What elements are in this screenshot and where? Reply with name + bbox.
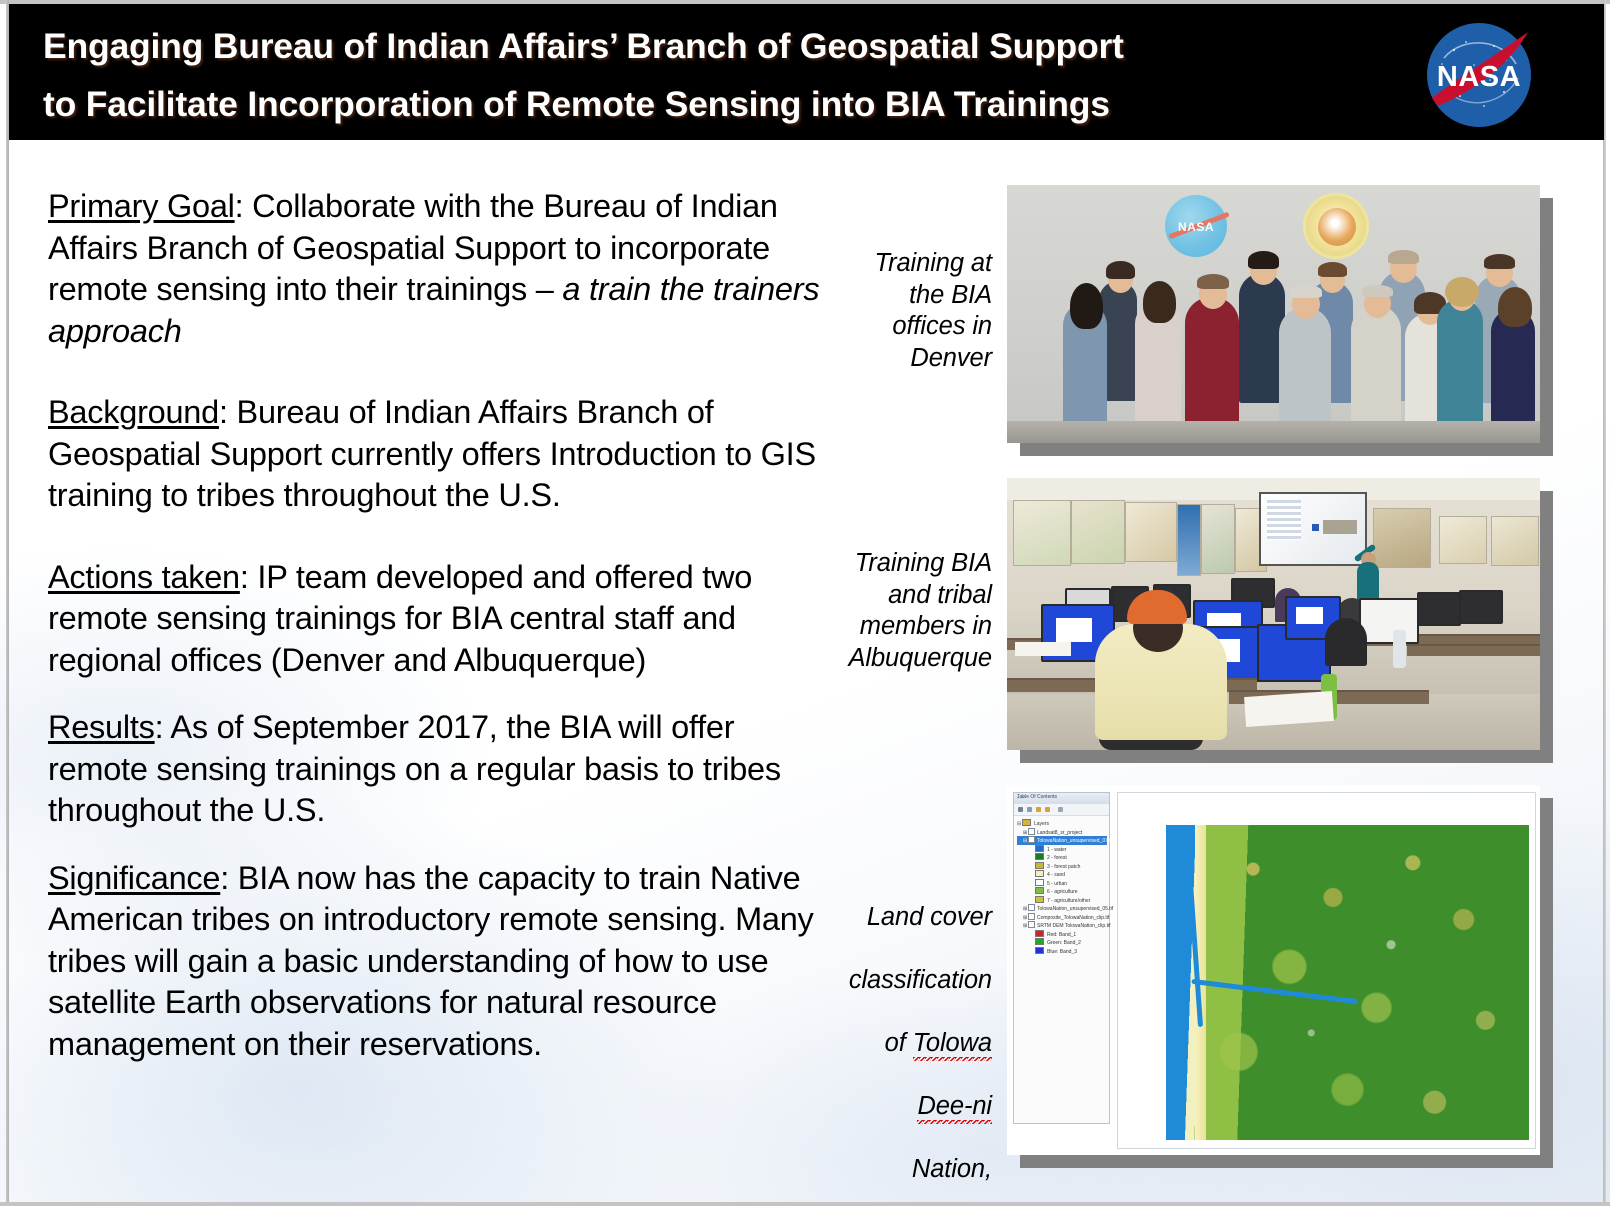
arcmap-toc-list-by-visibility-icon[interactable]	[1036, 807, 1041, 812]
arcmap-legend-label: 7 - agriculture/other	[1047, 898, 1090, 904]
photo-person-hair	[1498, 287, 1532, 327]
paragraph-lead-background: Background	[48, 394, 219, 430]
arcmap-toc-pin-close-icons[interactable]: ⌐ ×	[1017, 795, 1106, 801]
caption-landcover-line1: Land cover	[867, 903, 992, 931]
photo-person-hair	[1248, 251, 1279, 269]
photo-person-hair	[1484, 254, 1515, 269]
slide-header: Engaging Bureau of Indian Affairs’ Branc…	[9, 4, 1604, 140]
slide-border-right	[1603, 0, 1606, 1206]
wall-map-poster	[1125, 502, 1177, 562]
photo-person-hair	[1445, 277, 1479, 307]
arcmap-data-frame[interactable]	[1117, 792, 1536, 1149]
photo-denver-training[interactable]: NASA	[1007, 185, 1540, 443]
arcmap-layer-label: Landsat8_sr_project	[1037, 830, 1082, 836]
photo-person-hair	[1318, 262, 1347, 277]
wall-map-poster	[1439, 516, 1487, 564]
arcmap-layer-label: TolowaNation_unsupervised_07.img	[1037, 838, 1117, 844]
photo-person-hair	[1143, 281, 1176, 323]
photo-person	[1351, 305, 1401, 431]
spacer	[48, 681, 838, 707]
arcmap-layer-label: SRTM DEM TolowaNation_clip.tif	[1037, 923, 1110, 929]
photo-person-hair	[1290, 285, 1322, 298]
photo-albuquerque-training[interactable]	[1007, 478, 1540, 750]
arcmap-layer-item-selected[interactable]: ⊟TolowaNation_unsupervised_07.img	[1017, 836, 1107, 845]
arcmap-legend-band: Red: Band_1	[1017, 930, 1107, 939]
arcmap-legend-class: 6 - agriculture	[1017, 887, 1107, 896]
wall-map-poster	[1491, 516, 1539, 566]
photo-denver-table	[1007, 421, 1540, 443]
caption-landcover-line5: Nation,	[912, 1155, 992, 1183]
spacer	[48, 517, 838, 557]
svg-text:NASA: NASA	[1437, 61, 1521, 93]
paragraph-actions-taken: Actions taken: IP team developed and off…	[48, 557, 838, 682]
projected-nasa-logo-icon: NASA	[1165, 195, 1227, 257]
paragraph-primary-goal: Primary Goal: Collaborate with the Burea…	[48, 186, 838, 352]
photo-person	[1185, 297, 1239, 429]
paragraph-lead-actions-taken: Actions taken	[48, 559, 240, 595]
classroom-monitor	[1459, 590, 1503, 624]
photo-person-hair	[1197, 274, 1229, 289]
slide-canvas: Engaging Bureau of Indian Affairs’ Branc…	[0, 0, 1610, 1206]
wall-map-poster	[1373, 508, 1431, 568]
paragraph-results: Results: As of September 2017, the BIA w…	[48, 707, 838, 832]
arcmap-layer-label: Composite_TolowaNation_clip.tif	[1037, 915, 1109, 921]
arcmap-legend-band: Green: Band_2	[1017, 938, 1107, 947]
classroom-bottle	[1393, 630, 1406, 668]
arcmap-layer-tree[interactable]: ⊟Layers ⊞Landsat8_sr_project ⊟TolowaNati…	[1017, 819, 1107, 955]
arcmap-toc-list-by-selection-icon[interactable]	[1045, 807, 1050, 812]
paragraph-text-results: : As of September 2017, the BIA will off…	[48, 709, 781, 828]
spacer	[48, 832, 838, 858]
wall-map-poster	[1177, 504, 1201, 576]
arcmap-toc-list-by-drawing-order-icon[interactable]	[1018, 807, 1023, 812]
arcmap-legend-label: 5 - urban	[1047, 881, 1067, 887]
caption-landcover-misspelled-deeni: Dee-ni	[917, 1092, 992, 1124]
arcmap-layer-label: TolowaNation_unsupervised_05.tif	[1037, 906, 1113, 912]
wall-map-poster	[1013, 500, 1071, 566]
arcmap-layer-root[interactable]: ⊟Layers	[1017, 819, 1107, 828]
caption-landcover-line2: classification	[849, 966, 992, 994]
photo-person-hair	[1070, 283, 1103, 329]
caption-landcover-misspelled-tolowa: Tolowa	[913, 1029, 992, 1061]
arcmap-layer-item[interactable]: ⊞SRTM DEM TolowaNation_clip.tif	[1017, 921, 1107, 930]
paragraph-significance: Significance: BIA now has the capacity t…	[48, 858, 838, 1066]
classroom-monitor	[1417, 592, 1461, 626]
paragraph-background: Background: Bureau of Indian Affairs Bra…	[48, 392, 838, 517]
arcmap-legend-label: 6 - agriculture	[1047, 889, 1078, 895]
photo-person-hair	[1362, 285, 1393, 297]
wall-map-poster	[1201, 504, 1235, 574]
arcmap-legend-class: 1 - water	[1017, 845, 1107, 854]
nasa-logo-icon: NASA	[1424, 20, 1534, 130]
arcmap-layer-item[interactable]: ⊞Landsat8_sr_project	[1017, 828, 1107, 837]
caption-landcover-line3-prefix: of	[885, 1029, 913, 1057]
arcmap-legend-label: 2 - forest	[1047, 855, 1067, 861]
page-title: Engaging Bureau of Indian Affairs’ Branc…	[43, 17, 1383, 133]
classroom-desk	[1407, 644, 1540, 656]
classroom-paper	[1015, 642, 1071, 656]
paragraph-lead-primary-goal: Primary Goal	[48, 188, 235, 224]
arcmap-legend-class: 5 - urban	[1017, 879, 1107, 888]
photo-person	[1491, 309, 1535, 431]
arcmap-legend-class: 4 - sand	[1017, 870, 1107, 879]
caption-landcover: Land cover classification of Tolowa Dee-…	[826, 870, 992, 1206]
arcmap-legend-label: Red: Band_1	[1047, 932, 1076, 938]
landcover-raster	[1166, 825, 1529, 1140]
projector-screen	[1259, 492, 1367, 566]
slide-border-bottom	[0, 1202, 1610, 1206]
arcmap-legend-class: 3 - forest patch	[1017, 862, 1107, 871]
slide-border-left	[6, 0, 9, 1206]
arcmap-legend-label: Blue: Band_3	[1047, 949, 1077, 955]
wall-map-poster	[1071, 500, 1125, 564]
paragraph-lead-significance: Significance	[48, 860, 220, 896]
arcmap-legend-class: 7 - agriculture/other	[1017, 896, 1107, 905]
arcmap-legend-class: 2 - forest	[1017, 853, 1107, 862]
caption-albuquerque: Training BIA and tribal members in Albuq…	[830, 548, 992, 674]
classroom-monitor	[1359, 598, 1419, 644]
arcmap-layer-item[interactable]: ⊞Composite_TolowaNation_clip.tif	[1017, 913, 1107, 922]
classroom-student	[1325, 618, 1367, 666]
photo-person	[1279, 307, 1331, 431]
arcmap-legend-label: 4 - sand	[1047, 872, 1065, 878]
photo-landcover-arcmap[interactable]: Table Of Contents ⌐ × ⊟Layers ⊞Landsat8_…	[1007, 785, 1540, 1155]
caption-denver: Training at the BIA offices in Denver	[840, 248, 992, 374]
arcmap-toc-options-icon[interactable]	[1058, 807, 1063, 812]
arcmap-legend-label: 3 - forest patch	[1047, 864, 1080, 870]
body-text-column: Primary Goal: Collaborate with the Burea…	[48, 186, 838, 1065]
arcmap-toc-toolbar[interactable]	[1014, 804, 1109, 816]
photo-person	[1437, 299, 1483, 431]
photo-person-hair	[1106, 261, 1135, 279]
arcmap-legend-label: Green: Band_2	[1047, 940, 1081, 946]
arcmap-layer-root-label: Layers	[1034, 821, 1049, 827]
classroom-paper	[1244, 691, 1334, 727]
arcmap-layer-item[interactable]: ⊞TolowaNation_unsupervised_05.tif	[1017, 904, 1107, 913]
projected-tribal-seal-icon	[1303, 193, 1369, 259]
spacer	[48, 352, 838, 392]
photo-person-hair	[1388, 250, 1419, 264]
arcmap-legend-label: 1 - water	[1047, 847, 1066, 853]
arcmap-legend-band: Blue: Band_3	[1017, 947, 1107, 956]
paragraph-lead-results: Results	[48, 709, 155, 745]
arcmap-table-of-contents-panel[interactable]: Table Of Contents ⌐ × ⊟Layers ⊞Landsat8_…	[1013, 792, 1110, 1124]
arcmap-toc-list-by-source-icon[interactable]	[1027, 807, 1032, 812]
